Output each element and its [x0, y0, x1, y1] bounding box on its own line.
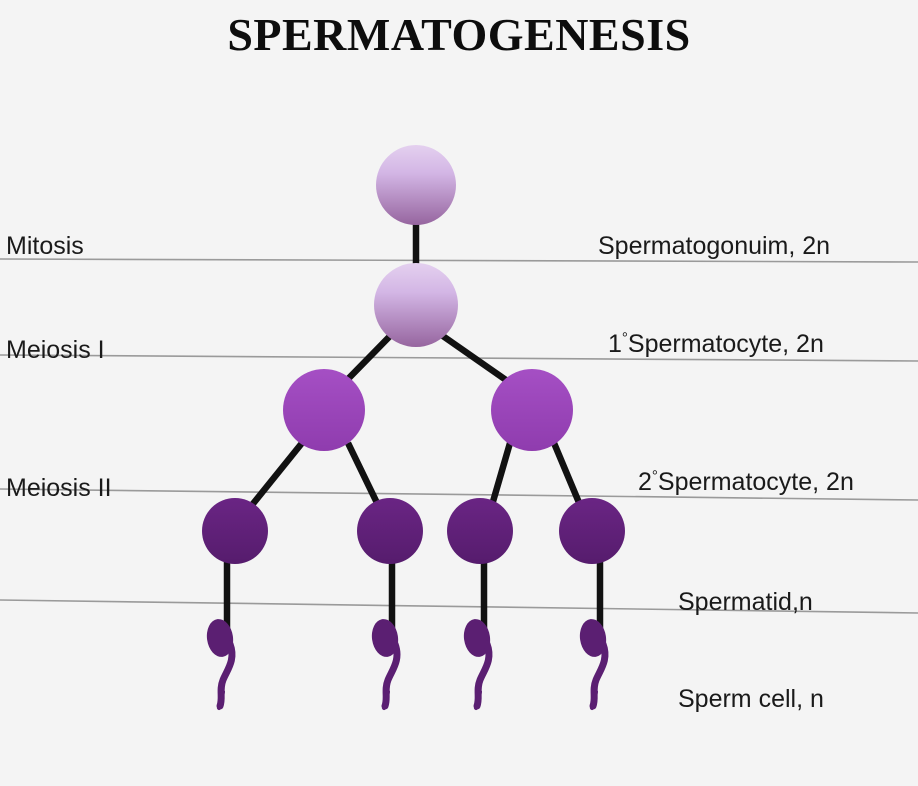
cell-spermatogonium [376, 145, 456, 225]
divider-lines [0, 259, 918, 613]
cell-secondary-spermatocyte [283, 369, 365, 451]
cell-label-spermatocyte-2n: 1°Spermatocyte, 2n [608, 330, 824, 359]
cell-spermatid [559, 498, 625, 564]
label-text: Spermatocyte, 2n [628, 330, 824, 358]
cell-secondary-spermatocyte [491, 369, 573, 451]
sperm-cell-3 [461, 617, 492, 708]
cell-shapes [202, 145, 625, 564]
secondary-left-to-spermatid-2 [348, 443, 378, 505]
diagram-canvas: SPERMATOGENESIS MitosisMeiosis IMeiosis … [0, 0, 918, 786]
sperm-cell-shapes [204, 617, 608, 708]
cell-label-sperm-cell-n: Sperm cell, n [678, 685, 824, 714]
cell-spermatid [357, 498, 423, 564]
secondary-left-to-spermatid-1 [252, 443, 302, 505]
cell-label-spermatocyte-2n: 2°Spermatocyte, 2n [638, 468, 854, 497]
stage-label-mitosis: Mitosis [6, 232, 84, 261]
primary-to-secondary-right [440, 334, 506, 380]
label-text: Spermatogonuim, 2n [598, 232, 830, 260]
spermatogenesis-diagram [0, 0, 918, 786]
cell-label-spermatogonuim-2n: Spermatogonuim, 2n [598, 232, 830, 261]
primary-to-secondary-left [348, 334, 392, 379]
label-text: Spermatocyte, 2n [658, 468, 854, 496]
label-order-prefix: 2 [638, 468, 652, 496]
label-text: Sperm cell, n [678, 685, 824, 713]
label-order-prefix: 1 [608, 330, 622, 358]
label-text: Spermatid,n [678, 588, 813, 616]
cell-spermatid [202, 498, 268, 564]
cell-spermatid [447, 498, 513, 564]
sperm-cell-1 [204, 617, 235, 708]
cell-label-spermatid-n: Spermatid,n [678, 588, 813, 617]
stage-label-meiosis-i: Meiosis I [6, 336, 105, 365]
stage-label-meiosis-ii: Meiosis II [6, 474, 112, 503]
sperm-cell-4 [577, 617, 608, 708]
cell-primary-spermatocyte [374, 263, 458, 347]
sperm-cell-2 [369, 617, 400, 708]
